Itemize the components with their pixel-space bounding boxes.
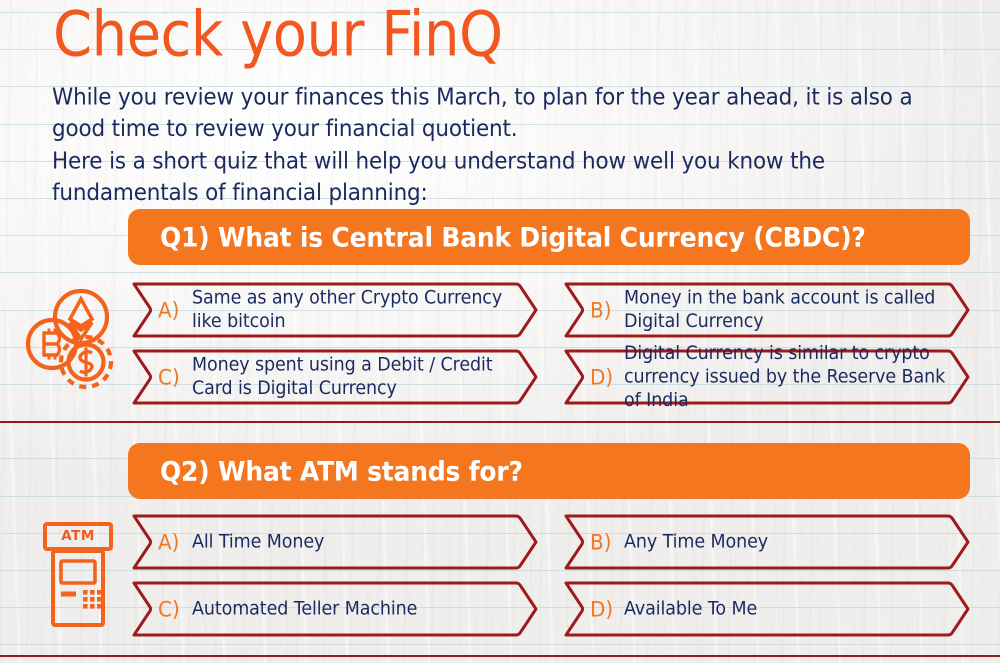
atm-icon-label: ATM xyxy=(36,528,120,544)
option-letter: C) xyxy=(158,364,192,389)
page-title: Check your FinQ xyxy=(53,4,503,67)
question-banner-q2: Q2) What ATM stands for? xyxy=(128,443,970,499)
option-text: Any Time Money xyxy=(624,530,768,554)
answer-option-q1-c[interactable]: C) Money spent using a Debit / Credit Ca… xyxy=(128,348,538,406)
option-letter: B) xyxy=(590,297,624,322)
atm-machine-icon: ATM xyxy=(36,521,120,629)
option-text: Money spent using a Debit / Credit Card … xyxy=(192,353,514,400)
option-letter: A) xyxy=(158,529,192,554)
answer-option-q2-c[interactable]: C) Automated Teller Machine xyxy=(128,580,538,638)
answer-option-q1-d[interactable]: D) Digital Currency is similar to crypto… xyxy=(560,348,970,406)
answer-option-q1-a[interactable]: A) Same as any other Crypto Currency lik… xyxy=(128,281,538,339)
answer-option-q1-b[interactable]: B) Money in the bank account is called D… xyxy=(560,281,970,339)
answer-option-q2-a[interactable]: A) All Time Money xyxy=(128,513,538,571)
option-letter: C) xyxy=(158,596,192,621)
option-letter: A) xyxy=(158,297,192,322)
section-divider-bottom xyxy=(0,655,1000,657)
intro-paragraph-1: While you review your finances this Marc… xyxy=(52,82,964,146)
option-text: All Time Money xyxy=(192,530,324,554)
option-text: Money in the bank account is called Digi… xyxy=(624,286,946,333)
question-text-q1: Q1) What is Central Bank Digital Currenc… xyxy=(160,221,866,252)
option-text: Automated Teller Machine xyxy=(192,597,417,621)
answer-option-q2-d[interactable]: D) Available To Me xyxy=(560,580,970,638)
option-letter: D) xyxy=(590,596,624,621)
option-text: Same as any other Crypto Currency like b… xyxy=(192,286,514,333)
option-letter: B) xyxy=(590,529,624,554)
intro-paragraph-2: Here is a short quiz that will help you … xyxy=(52,146,964,210)
section-divider-top xyxy=(0,421,1000,423)
option-text: Available To Me xyxy=(624,597,757,621)
option-letter: D) xyxy=(590,364,624,389)
question-banner-q1: Q1) What is Central Bank Digital Currenc… xyxy=(128,209,970,265)
question-text-q2: Q2) What ATM stands for? xyxy=(160,455,523,486)
answer-option-q2-b[interactable]: B) Any Time Money xyxy=(560,513,970,571)
crypto-coins-icon xyxy=(24,283,128,393)
option-text: Digital Currency is similar to crypto cu… xyxy=(624,342,946,413)
